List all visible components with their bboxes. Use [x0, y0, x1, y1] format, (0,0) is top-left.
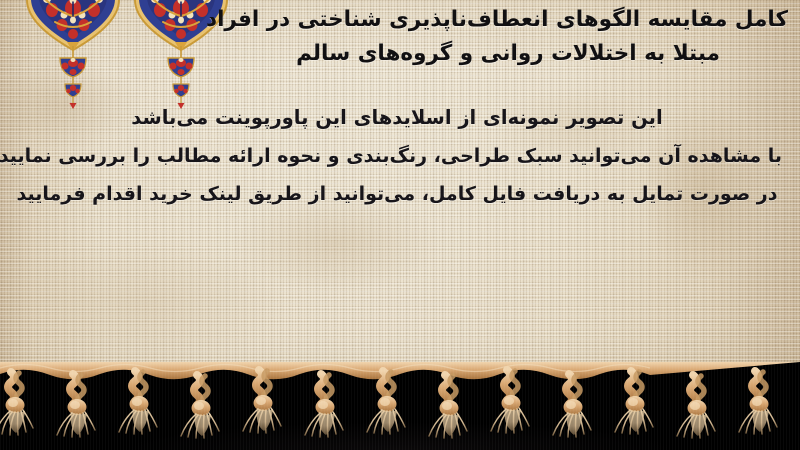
tassel — [553, 374, 591, 437]
ornament-pendant-right — [168, 46, 194, 109]
ornament-pendant-left — [60, 46, 86, 109]
tassel — [739, 371, 777, 434]
body-line-1: این تصویر نمونه‌ای از اسلایدهای این پاور… — [12, 108, 782, 128]
tassel — [367, 371, 405, 434]
slide-title: کامل مقایسه الگوهای انعطاف‌ناپذیری شناخت… — [228, 4, 788, 70]
fringe-svg — [0, 362, 800, 450]
slide-title-line-2: مبتلا به اختلالات روانی و گروه‌های سالم — [228, 38, 788, 71]
tassel — [491, 370, 529, 433]
tassel — [677, 375, 715, 438]
ornament-medallion-left — [27, 0, 119, 52]
tassel-row — [0, 370, 777, 438]
tassel — [429, 375, 467, 438]
slide-canvas: کامل مقایسه الگوهای انعطاف‌ناپذیری شناخت… — [0, 0, 800, 450]
slide-title-line-1: کامل مقایسه الگوهای انعطاف‌ناپذیری شناخت… — [228, 4, 788, 37]
tassel — [119, 371, 157, 434]
tassel — [0, 372, 33, 435]
tassel — [57, 374, 95, 437]
tassel — [181, 375, 219, 438]
tassel — [243, 370, 281, 433]
body-line-3: در صورت تمایل به دریافت فایل کامل، می‌تو… — [12, 185, 782, 204]
tassel — [615, 371, 653, 434]
carpet-fringe — [0, 362, 800, 450]
tassel — [305, 374, 343, 437]
slide-body: این تصویر نمونه‌ای از اسلایدهای این پاور… — [12, 108, 782, 204]
body-line-2: با مشاهده آن می‌توانید سبک طراحی، رنگ‌بن… — [12, 147, 782, 166]
